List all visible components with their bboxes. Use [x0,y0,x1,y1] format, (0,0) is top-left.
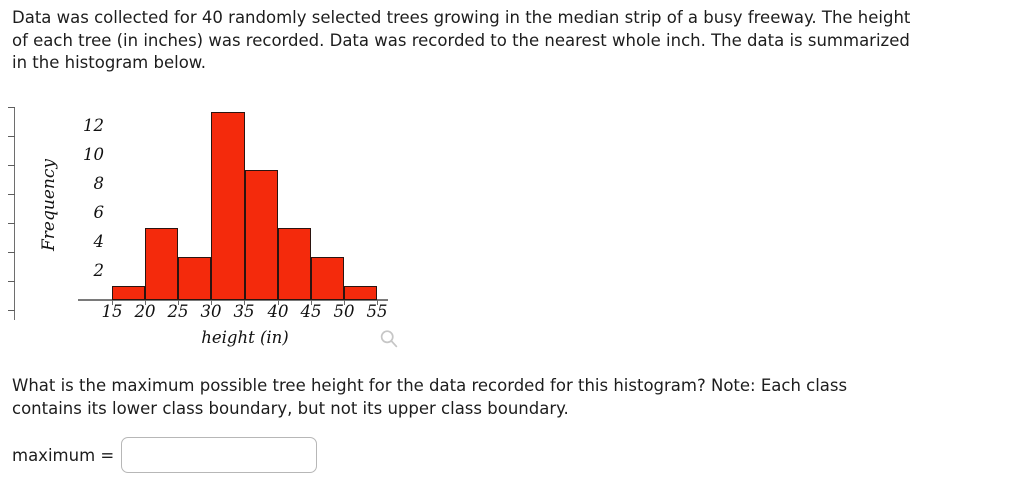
x-tick-label-35: 35 [229,302,259,321]
histogram-bar [278,228,311,301]
x-tick-label-25: 25 [163,302,193,321]
maximum-label: maximum = [12,446,114,465]
histogram-figure: Frequency 12 10 8 6 4 2 15 20 25 30 35 4… [0,90,420,360]
frequency-axis-tick [8,252,15,253]
intro-paragraph: Data was collected for 40 randomly selec… [12,7,912,75]
x-tick-label-40: 40 [263,302,293,321]
y-tick-label-2: 2 [78,261,104,280]
histogram-bar [344,286,377,301]
y-tick-label-4: 4 [78,232,104,251]
x-tick-label-15: 15 [97,302,127,321]
frequency-axis-tick [8,136,15,137]
histogram-bar [311,257,344,301]
histogram-bar [245,170,278,301]
x-tick-label-20: 20 [130,302,160,321]
magnifier-icon[interactable] [378,328,400,350]
histogram-bar [211,112,244,301]
frequency-axis-tick [8,194,15,195]
frequency-axis-tick [8,107,15,108]
maximum-input[interactable] [121,437,317,473]
x-tick-label-55: 55 [362,302,392,321]
y-axis-label: Frequency [39,150,59,260]
question-paragraph: What is the maximum possible tree height… [12,375,917,420]
x-tick-label-45: 45 [296,302,326,321]
frequency-axis-tick [8,223,15,224]
histogram-bar [145,228,178,301]
histogram-bar [178,257,211,301]
answer-row: maximum = [12,437,317,473]
x-tick-label-30: 30 [196,302,226,321]
frequency-axis-line [14,107,15,320]
y-tick-label-8: 8 [78,174,104,193]
x-axis-label: height (in) [120,328,370,347]
x-tick-label-50: 50 [329,302,359,321]
histogram-bar [112,286,145,301]
y-tick-label-6: 6 [78,203,104,222]
frequency-axis-tick [8,310,15,311]
y-tick-label-10: 10 [78,145,104,164]
histogram-bars [112,104,377,300]
frequency-axis-tick [8,281,15,282]
frequency-axis-tick [8,165,15,166]
y-tick-label-12: 12 [78,116,104,135]
